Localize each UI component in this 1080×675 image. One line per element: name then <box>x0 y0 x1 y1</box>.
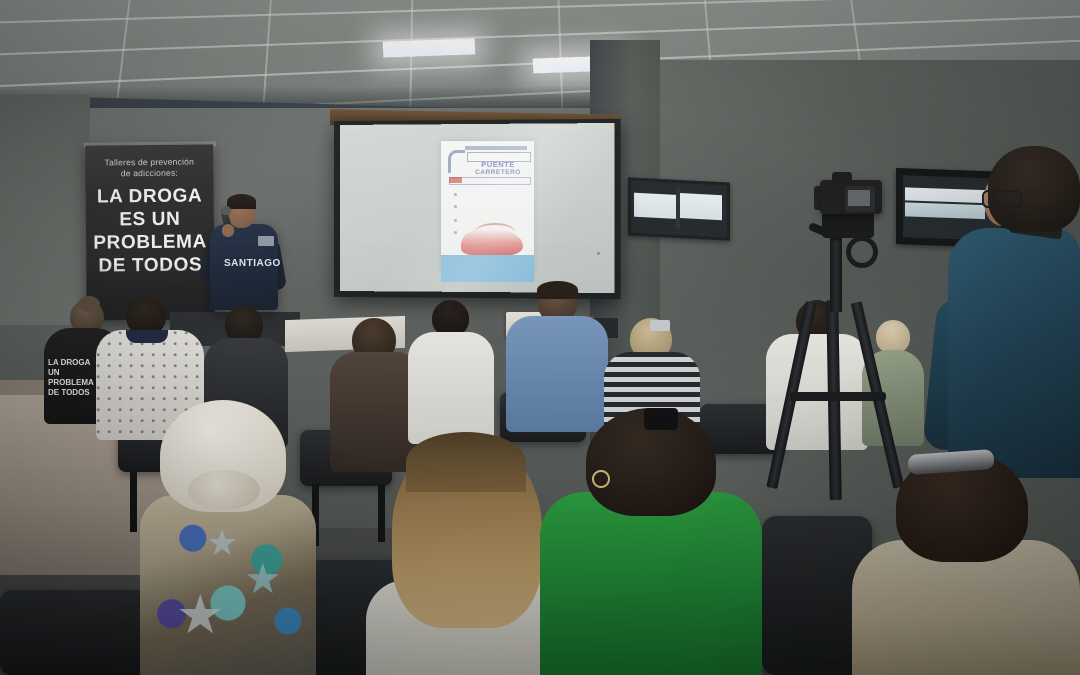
chair-leg-1 <box>130 470 137 532</box>
slide-bullet-3 <box>454 219 457 222</box>
slide-bullet-2 <box>454 205 457 208</box>
presenter-hand <box>222 224 234 237</box>
tripod-spreader <box>790 392 886 401</box>
standing-man-hair <box>988 146 1080 232</box>
shirt-text-line3: DE TODOS <box>48 388 90 397</box>
presenter-hair <box>227 194 256 209</box>
star-motif-2: ★ <box>244 556 282 602</box>
hair-clip-icon <box>650 320 670 331</box>
banner-subtitle-line1: Talleres de prevención <box>104 157 194 168</box>
presenter-shirt-logo: SANTIAGO <box>224 258 266 269</box>
tripod-head <box>822 212 874 238</box>
attendee-hair-top <box>406 432 526 492</box>
camera-screen <box>848 190 870 206</box>
chair-front-4 <box>0 590 150 675</box>
microphone-head-icon <box>221 206 231 215</box>
shirt-text-line2: UN PROBLEMA <box>48 368 94 387</box>
star-motif-3: ★ <box>206 520 238 566</box>
attendee-torso <box>506 316 608 432</box>
slide-title-rule <box>465 146 527 150</box>
presentation-room-photo: PUENTE CARRETERO Talleres de prevención … <box>0 0 1080 675</box>
attendee-collar <box>126 330 168 343</box>
eyeglasses-icon <box>982 190 1022 208</box>
banner-headline-line3: PROBLEMA <box>93 231 207 253</box>
screen-control-button[interactable] <box>597 252 600 255</box>
banner-subtitle-line2: de adicciones: <box>121 168 178 179</box>
hair-clip-icon <box>644 408 678 430</box>
window-left <box>628 177 730 240</box>
ceiling-light-1 <box>383 38 476 57</box>
attendee-hair-bun <box>78 296 100 312</box>
chair-leg-4 <box>378 484 385 542</box>
attendee-torso <box>540 492 762 675</box>
earring-icon <box>592 470 610 488</box>
attendee-torso <box>408 332 494 444</box>
attendee-hair-bun <box>188 470 260 510</box>
camera-viewfinder-icon <box>832 172 852 184</box>
left-wall <box>0 95 90 325</box>
attendee-head <box>876 320 910 354</box>
star-motif-1: ★ <box>176 592 224 638</box>
tripod-adjust-knob[interactable] <box>846 236 878 268</box>
banner-headline-line1: LA DROGA <box>97 185 203 207</box>
slide-bullet-1 <box>454 193 457 196</box>
standing-man-torso <box>948 228 1080 478</box>
tripod-column <box>830 236 842 312</box>
slide-bullet-4 <box>454 231 457 234</box>
slide-title-sub: CARRETERO <box>463 169 533 177</box>
shirt-text-line1: LA DROGA <box>48 358 90 367</box>
attendee-hair <box>537 281 578 299</box>
slide-car-graphic <box>461 229 523 255</box>
banner-headline-line2: ES UN <box>119 209 180 231</box>
slide-title-main: PUENTE <box>463 161 533 169</box>
slide-lower-band <box>441 255 534 282</box>
presenter-shirt-patch <box>258 236 274 246</box>
banner-subtitle: Talleres de prevención de adicciones: <box>91 156 207 179</box>
slide-accent-block <box>449 177 462 183</box>
